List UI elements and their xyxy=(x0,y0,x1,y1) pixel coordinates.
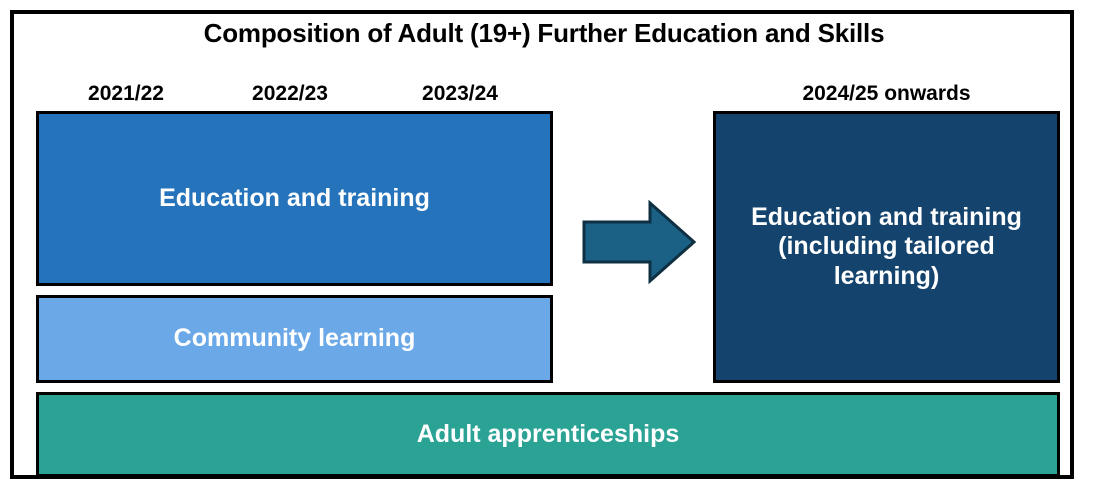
period-label-2023-24: 2023/24 xyxy=(370,82,550,106)
period-label-2021-22: 2021/22 xyxy=(36,82,216,106)
diagram-figure: Composition of Adult (19+) Further Educa… xyxy=(0,0,1095,500)
block-education-and-training: Education and training xyxy=(36,111,553,286)
block-tailored-line-2: (including tailored xyxy=(778,232,995,260)
block-education-and-training-including-tailored-learning: Education and training(including tailore… xyxy=(713,111,1060,383)
block-education-and-training-tailored-label: Education and training(including tailore… xyxy=(751,203,1022,292)
block-adult-apprenticeships-label: Adult apprenticeships xyxy=(417,420,680,450)
page-title: Composition of Adult (19+) Further Educa… xyxy=(14,18,1074,49)
block-community-learning-label: Community learning xyxy=(174,324,416,354)
block-education-and-training-label: Education and training xyxy=(159,184,430,214)
block-tailored-line-1: Education and training xyxy=(751,203,1022,231)
block-adult-apprenticeships: Adult apprenticeships xyxy=(36,392,1060,477)
rightward-transition-arrow-icon xyxy=(582,200,696,284)
block-community-learning: Community learning xyxy=(36,295,553,383)
period-label-2024-25-onwards: 2024/25 onwards xyxy=(713,82,1060,106)
period-label-2022-23: 2022/23 xyxy=(200,82,380,106)
block-tailored-line-3: learning) xyxy=(834,262,940,290)
